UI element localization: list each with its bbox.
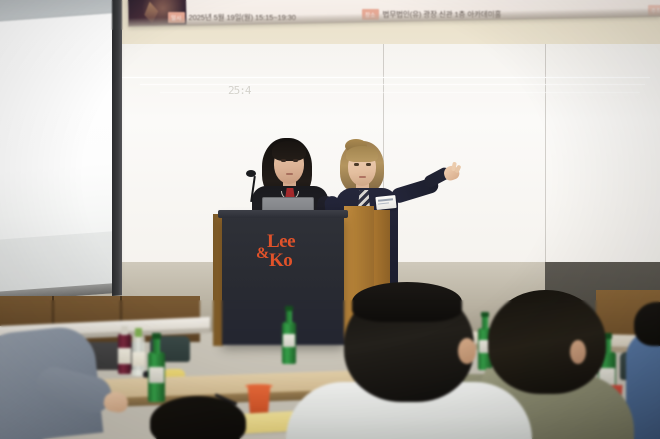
audience-right-ear — [570, 340, 586, 364]
bottle-label — [118, 348, 131, 364]
bottle-cap — [481, 312, 489, 317]
bottle-cap — [152, 333, 161, 339]
bottle-neck — [482, 316, 488, 330]
audience-center-ear — [458, 338, 476, 364]
bottle-label — [149, 367, 164, 383]
speaker-left-eye-left — [281, 159, 286, 162]
bottle-juice-mid — [118, 334, 131, 374]
speaker-left-hair-front — [272, 141, 306, 161]
bottle-green-center — [282, 322, 296, 364]
audience-right-head — [488, 290, 606, 394]
lee-and-ko-logo: & Lee Ko — [256, 230, 308, 278]
bottle-green-front — [148, 352, 165, 402]
wall-highlight-2 — [140, 84, 645, 85]
speaker-right-mouth — [359, 176, 366, 178]
banner-title: Poland / — [184, 0, 221, 2]
podium-top-lip — [218, 210, 348, 218]
bottle-label — [283, 334, 295, 347]
bottle-neck — [153, 338, 160, 354]
conference-photo: 25:4 Poland / 일시 2025년 5월 19일(월) 15:15~1… — [0, 0, 660, 439]
audience-center-hair — [352, 282, 462, 322]
bottle-cap — [121, 326, 128, 335]
bottle-clear-mid — [132, 336, 145, 376]
speaker-right-eye-left — [354, 163, 359, 166]
logo-ko: Ko — [269, 251, 292, 270]
microphone-icon — [246, 170, 256, 177]
speaker-right-eye-right — [366, 163, 371, 166]
bottle-label — [132, 352, 145, 366]
speaker-left-eye-right — [293, 159, 298, 162]
logo-lee: Lee — [267, 232, 295, 251]
wall-highlight-1 — [120, 77, 650, 78]
bottle-cap — [135, 328, 142, 337]
speaker-right-hair-fringe — [346, 146, 378, 162]
audience-head-mid — [150, 396, 246, 439]
bottle-neck — [286, 310, 292, 324]
screen-frame-edge — [112, 0, 122, 296]
wall-mark-text: 25:4 — [228, 84, 250, 100]
bottle-cap — [285, 306, 293, 311]
speaker-left-mouth — [286, 173, 293, 175]
